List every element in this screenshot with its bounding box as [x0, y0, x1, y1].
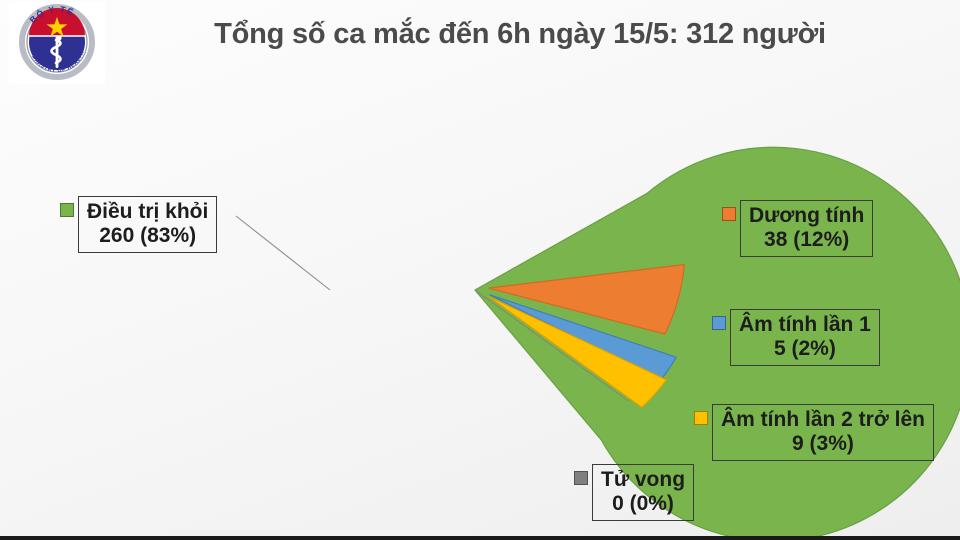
legend-swatch-death — [574, 471, 588, 485]
callout-label-positive: Dương tính — [749, 204, 864, 227]
callout-box-positive: Dương tính 38 (12%) — [740, 200, 873, 257]
callout-box-negative1: Âm tính lần 1 5 (2%) — [730, 309, 880, 366]
slide-canvas: BỘ Y TẾ MINISTRY OF HEALTH Tổng số ca mắ… — [0, 0, 960, 540]
legend-swatch-positive — [722, 207, 736, 221]
callout-label-negative2: Âm tính lần 2 trở lên — [721, 408, 925, 431]
callout-value-positive: 38 (12%) — [749, 228, 864, 252]
callout-positive[interactable]: Dương tính 38 (12%) — [722, 200, 873, 257]
callout-box-recovered: Điều trị khỏi 260 (83%) — [78, 196, 217, 253]
callout-value-recovered: 260 (83%) — [87, 224, 208, 248]
legend-swatch-recovered — [60, 203, 74, 217]
callout-label-death: Tử vong — [601, 468, 685, 491]
callout-label-recovered: Điều trị khỏi — [87, 200, 208, 223]
callout-box-death: Tử vong 0 (0%) — [592, 464, 694, 521]
callout-label-negative1: Âm tính lần 1 — [739, 313, 871, 336]
callout-death[interactable]: Tử vong 0 (0%) — [574, 464, 694, 521]
callout-value-death: 0 (0%) — [601, 492, 685, 516]
callout-recovered[interactable]: Điều trị khỏi 260 (83%) — [60, 196, 217, 253]
callout-value-negative1: 5 (2%) — [739, 337, 871, 361]
legend-swatch-negative2 — [694, 411, 708, 425]
legend-swatch-negative1 — [712, 316, 726, 330]
callout-box-negative2: Âm tính lần 2 trở lên 9 (3%) — [712, 404, 934, 461]
callout-negative1[interactable]: Âm tính lần 1 5 (2%) — [712, 309, 880, 366]
leader-line-recovered — [236, 216, 330, 290]
callout-negative2[interactable]: Âm tính lần 2 trở lên 9 (3%) — [694, 404, 934, 461]
callout-value-negative2: 9 (3%) — [721, 432, 925, 456]
